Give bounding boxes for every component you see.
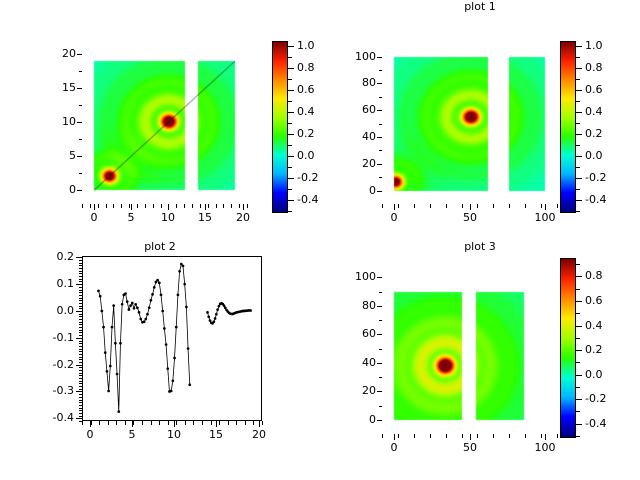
ytick-major [77, 122, 82, 123]
xtick-label: 5 [111, 212, 151, 223]
xtick-minor [247, 204, 248, 208]
ytick-minor [79, 386, 82, 387]
xtick-major [168, 204, 169, 210]
ytick-major [377, 191, 382, 192]
colorbar-tick-major [576, 301, 582, 302]
ytick-minor [79, 290, 82, 291]
ytick-minor [379, 124, 382, 125]
xtick-minor [446, 434, 447, 438]
colorbar-tick-minor [288, 101, 292, 102]
colorbar-tick-label: -0.4 [585, 194, 625, 205]
xtick-major [132, 421, 133, 427]
xtick-label: 0 [374, 212, 414, 223]
ytick-major [77, 54, 82, 55]
ytick-minor [79, 263, 82, 264]
xtick-major [470, 204, 471, 210]
data-point-marker [143, 320, 146, 323]
xtick-label: 5 [112, 429, 152, 440]
data-point-marker [119, 342, 122, 345]
ytick-label: -0.4 [28, 412, 74, 423]
xtick-label: 100 [525, 442, 565, 453]
xtick-minor [382, 434, 383, 438]
data-point-marker [124, 292, 127, 295]
data-point-marker [134, 303, 137, 306]
colorbar-tick-minor [576, 411, 580, 412]
colorbar [560, 258, 576, 438]
xtick-major [243, 204, 244, 210]
xtick-minor [91, 421, 92, 425]
ytick-minor [79, 370, 82, 371]
ytick-label: 0 [330, 185, 376, 196]
xtick-minor [142, 421, 143, 425]
ytick-minor [79, 276, 82, 277]
xtick-minor [82, 421, 83, 425]
xtick-minor [462, 434, 463, 438]
xtick-label: 50 [450, 442, 490, 453]
ytick-minor [79, 300, 82, 301]
colorbar-tick-minor [576, 101, 580, 102]
ytick-minor [79, 416, 82, 417]
ytick-label: -0.3 [28, 385, 74, 396]
ytick-label: 0 [30, 184, 76, 195]
ytick-label: 80 [330, 300, 376, 311]
ytick-major [377, 363, 382, 364]
ytick-major [377, 110, 382, 111]
ytick-minor [79, 378, 82, 379]
colorbar-tick-minor [576, 189, 580, 190]
ytick-minor [79, 375, 82, 376]
xtick-major [545, 204, 546, 210]
ytick-label: 80 [330, 77, 376, 88]
data-point-marker [136, 306, 139, 309]
xtick-minor [192, 204, 193, 208]
ytick-minor [79, 400, 82, 401]
colorbar-tick-minor [576, 362, 580, 363]
colorbar-tick-major [576, 46, 582, 47]
data-point-marker [150, 299, 153, 302]
colorbar-tick-major [288, 200, 294, 201]
xtick-label: 15 [196, 429, 236, 440]
ytick-minor [79, 402, 82, 403]
colorbar-tick-label: 1.0 [585, 40, 625, 51]
xtick-minor [525, 204, 526, 208]
xtick-minor [430, 434, 431, 438]
data-point-marker [126, 300, 129, 303]
xtick-label: 100 [525, 212, 565, 223]
xtick-minor [108, 421, 109, 425]
xtick-minor [430, 204, 431, 208]
colorbar-tick-minor [288, 211, 292, 212]
data-point-marker [102, 326, 105, 329]
data-point-marker [109, 365, 112, 368]
xtick-label: 15 [185, 212, 225, 223]
ytick-minor [79, 324, 82, 325]
colorbar [272, 41, 288, 213]
ytick-label: 0.1 [28, 278, 74, 289]
colorbar-tick-major [576, 156, 582, 157]
ytick-minor [79, 316, 82, 317]
xtick-minor [82, 204, 83, 208]
data-point-marker [182, 265, 185, 268]
ytick-minor [79, 298, 82, 299]
data-point-marker [151, 293, 154, 296]
colorbar-tick-label: -0.2 [585, 172, 625, 183]
colorbar-tick-label: 0.0 [585, 369, 625, 380]
ytick-minor [379, 177, 382, 178]
ytick-major [377, 306, 382, 307]
xtick-minor [113, 204, 114, 208]
ytick-minor [79, 295, 82, 296]
ytick-minor [79, 71, 82, 72]
xtick-minor [382, 204, 383, 208]
colorbar-tick-major [288, 90, 294, 91]
xtick-minor [185, 421, 186, 425]
ytick-minor [79, 322, 82, 323]
ytick-minor [79, 367, 82, 368]
data-point-marker [139, 318, 142, 321]
data-point-marker [158, 281, 161, 284]
colorbar-tick-minor [576, 387, 580, 388]
ytick-label: 60 [330, 104, 376, 115]
xtick-minor [477, 434, 478, 438]
ytick-minor [79, 389, 82, 390]
xtick-minor [145, 204, 146, 208]
colorbar-tick-minor [576, 57, 580, 58]
data-point-marker [146, 313, 149, 316]
colorbar-tick-major [576, 200, 582, 201]
panel-top-right: plot 1 0204060801000501001.00.80.60.40.2… [320, 0, 640, 240]
colorbar-tick-major [288, 112, 294, 113]
xtick-minor [557, 434, 558, 438]
xtick-minor [493, 434, 494, 438]
ytick-label: 0 [330, 414, 376, 425]
colorbar-tick-label: 0.4 [585, 320, 625, 331]
heatmap-image [382, 266, 557, 434]
xtick-minor [239, 204, 240, 208]
ytick-minor [79, 394, 82, 395]
data-point-marker [129, 304, 132, 307]
xtick-minor [106, 204, 107, 208]
xtick-minor [219, 421, 220, 425]
data-point-marker [178, 270, 181, 273]
ytick-minor [79, 271, 82, 272]
ytick-major [77, 156, 82, 157]
xtick-minor [414, 204, 415, 208]
ytick-major [377, 391, 382, 392]
ytick-minor [379, 150, 382, 151]
ytick-major [377, 164, 382, 165]
colorbar-tick-minor [288, 79, 292, 80]
colorbar-tick-minor [288, 189, 292, 190]
colorbar-tick-major [576, 90, 582, 91]
colorbar-tick-major [576, 178, 582, 179]
ytick-label: -0.2 [28, 359, 74, 370]
data-point-marker [148, 306, 151, 309]
ytick-minor [79, 349, 82, 350]
data-point-marker [216, 308, 219, 311]
ytick-label: 20 [330, 158, 376, 169]
ytick-minor [379, 377, 382, 378]
xtick-label: 0 [70, 429, 110, 440]
data-point-marker [188, 383, 191, 386]
ytick-minor [79, 332, 82, 333]
colorbar-tick-major [576, 112, 582, 113]
colorbar-tick-minor [576, 211, 580, 212]
ytick-label: 0.2 [28, 251, 74, 262]
ytick-label: 100 [330, 271, 376, 282]
panel-bottom-right-title: plot 3 [320, 240, 640, 253]
xtick-minor [541, 204, 542, 208]
xtick-label: 0 [74, 212, 114, 223]
data-point-marker [107, 390, 110, 393]
colorbar-tick-minor [576, 145, 580, 146]
ytick-minor [379, 349, 382, 350]
xtick-major [94, 204, 95, 210]
colorbar-tick-major [288, 68, 294, 69]
data-point-marker [144, 318, 147, 321]
data-point-marker [153, 286, 156, 289]
xtick-minor [208, 204, 209, 208]
xtick-minor [228, 421, 229, 425]
data-point-marker [114, 342, 117, 345]
colorbar-tick-label: 0.8 [585, 270, 625, 281]
ytick-label: 100 [330, 51, 376, 62]
ytick-minor [79, 139, 82, 140]
data-point-marker [138, 311, 141, 314]
panel-bottom-left: plot 2 0.20.10.0-0.1-0.2-0.3-0.405101520 [0, 240, 320, 480]
xtick-minor [200, 204, 201, 208]
xtick-minor [202, 421, 203, 425]
colorbar-tick-minor [576, 79, 580, 80]
xtick-minor [168, 421, 169, 425]
panel-top-right-title: plot 1 [320, 0, 640, 13]
ytick-minor [79, 346, 82, 347]
data-point-marker [133, 307, 136, 310]
heatmap-image [382, 46, 557, 204]
ytick-minor [79, 257, 82, 258]
xtick-major [470, 434, 471, 440]
colorbar-tick-major [576, 399, 582, 400]
xtick-minor [151, 421, 152, 425]
xtick-label: 20 [239, 429, 279, 440]
ytick-label: 10 [30, 116, 76, 127]
xtick-major [394, 204, 395, 210]
data-point-marker [207, 316, 210, 319]
xtick-minor [223, 204, 224, 208]
colorbar-tick-major [576, 134, 582, 135]
ytick-minor [79, 373, 82, 374]
data-point-marker [177, 294, 180, 297]
colorbar-tick-label: 0.0 [585, 150, 625, 161]
data-point-marker [170, 390, 173, 393]
ytick-minor [79, 287, 82, 288]
colorbar-tick-major [576, 68, 582, 69]
xtick-major [131, 204, 132, 210]
ytick-minor [79, 265, 82, 266]
xtick-minor [125, 421, 126, 425]
ytick-minor [379, 320, 382, 321]
ytick-minor [79, 338, 82, 339]
colorbar-tick-label: -0.2 [585, 393, 625, 404]
ytick-minor [379, 97, 382, 98]
ytick-label: 20 [30, 48, 76, 59]
ytick-label: 15 [30, 82, 76, 93]
ytick-minor [79, 330, 82, 331]
xtick-minor [176, 421, 177, 425]
data-point-marker [187, 347, 190, 350]
ytick-label: 0.0 [28, 305, 74, 316]
ytick-minor [79, 284, 82, 285]
ytick-label: 40 [330, 357, 376, 368]
colorbar-tick-minor [576, 167, 580, 168]
ytick-minor [79, 279, 82, 280]
ytick-minor [79, 381, 82, 382]
ytick-major [377, 277, 382, 278]
xtick-minor [245, 421, 246, 425]
data-point-marker [161, 310, 164, 313]
xtick-minor [557, 204, 558, 208]
xtick-minor [159, 421, 160, 425]
xtick-minor [161, 204, 162, 208]
xtick-minor [462, 204, 463, 208]
xtick-minor [541, 434, 542, 438]
xtick-label: 50 [450, 212, 490, 223]
data-point-marker [128, 308, 131, 311]
xtick-minor [398, 434, 399, 438]
data-point-marker [173, 357, 176, 360]
ytick-minor [79, 408, 82, 409]
ytick-minor [79, 359, 82, 360]
ytick-minor [79, 383, 82, 384]
ytick-minor [79, 354, 82, 355]
ytick-label: 5 [30, 150, 76, 161]
xtick-minor [116, 421, 117, 425]
xtick-major [205, 204, 206, 210]
heatmap-image [82, 46, 247, 204]
ytick-minor [79, 357, 82, 358]
xtick-minor [525, 434, 526, 438]
colorbar-tick-major [576, 350, 582, 351]
ytick-label: 20 [330, 385, 376, 396]
colorbar-tick-major [576, 326, 582, 327]
ytick-minor [79, 268, 82, 269]
ytick-minor [379, 70, 382, 71]
xtick-minor [137, 204, 138, 208]
data-point-marker [163, 327, 166, 330]
xtick-minor [90, 204, 91, 208]
colorbar-tick-major [288, 134, 294, 135]
data-point-marker [206, 311, 209, 314]
xtick-minor [216, 204, 217, 208]
ytick-minor [79, 413, 82, 414]
xtick-minor [253, 421, 254, 425]
colorbar-tick-major [288, 178, 294, 179]
panel-top-left: 05101520051015201.00.80.60.40.20.0-0.2-0… [0, 0, 320, 240]
colorbar-tick-minor [576, 436, 580, 437]
colorbar-tick-major [576, 276, 582, 277]
ytick-minor [79, 405, 82, 406]
xtick-minor [509, 434, 510, 438]
xtick-minor [129, 204, 130, 208]
colorbar-tick-major [576, 424, 582, 425]
xtick-major [216, 421, 217, 427]
colorbar-tick-label: 0.2 [585, 128, 625, 139]
colorbar-tick-label: 0.4 [585, 106, 625, 117]
xtick-major [259, 421, 260, 427]
data-point-marker [160, 294, 163, 297]
xtick-minor [184, 204, 185, 208]
ytick-major [377, 137, 382, 138]
data-point-marker [183, 283, 186, 286]
colorbar-tick-label: 0.6 [585, 84, 625, 95]
ytick-minor [379, 292, 382, 293]
ytick-label: -0.1 [28, 332, 74, 343]
ytick-minor [79, 343, 82, 344]
line-series-segment-main [98, 264, 189, 412]
colorbar-tick-label: -0.4 [585, 418, 625, 429]
ytick-minor [79, 319, 82, 320]
ytick-major [77, 88, 82, 89]
data-point-marker [104, 351, 107, 354]
data-point-marker [131, 302, 134, 305]
data-point-marker [156, 279, 159, 282]
xtick-minor [477, 204, 478, 208]
colorbar-tick-major [576, 375, 582, 376]
colorbar-tick-label: 0.8 [585, 62, 625, 73]
colorbar-tick-minor [576, 123, 580, 124]
ytick-minor [79, 281, 82, 282]
ytick-minor [79, 311, 82, 312]
colorbar-tick-minor [288, 57, 292, 58]
ytick-major [377, 83, 382, 84]
colorbar-tick-minor [288, 167, 292, 168]
xtick-major [545, 434, 546, 440]
ytick-label: 60 [330, 328, 376, 339]
data-point-marker [172, 379, 175, 382]
ytick-major [77, 190, 82, 191]
colorbar-tick-minor [288, 123, 292, 124]
xtick-minor [414, 434, 415, 438]
ytick-minor [79, 260, 82, 261]
ytick-minor [79, 105, 82, 106]
ytick-minor [79, 341, 82, 342]
data-point-marker [101, 310, 104, 313]
xtick-minor [193, 421, 194, 425]
data-point-marker [112, 304, 115, 307]
xtick-minor [99, 421, 100, 425]
figure-canvas: 05101520051015201.00.80.60.40.20.0-0.2-0… [0, 0, 640, 480]
xtick-minor [98, 204, 99, 208]
xtick-minor [211, 421, 212, 425]
data-point-marker [111, 326, 114, 329]
xtick-major [90, 421, 91, 427]
xtick-minor [493, 204, 494, 208]
colorbar-tick-minor [576, 338, 580, 339]
data-point-marker [116, 373, 119, 376]
xtick-major [394, 434, 395, 440]
ytick-minor [79, 308, 82, 309]
xtick-minor [121, 204, 122, 208]
data-point-marker [97, 290, 100, 293]
ytick-major [377, 57, 382, 58]
data-point-marker [185, 306, 188, 309]
ytick-minor [79, 365, 82, 366]
ytick-minor [79, 173, 82, 174]
ytick-minor [79, 292, 82, 293]
xtick-minor [153, 204, 154, 208]
colorbar [560, 41, 576, 213]
colorbar-tick-major [288, 156, 294, 157]
